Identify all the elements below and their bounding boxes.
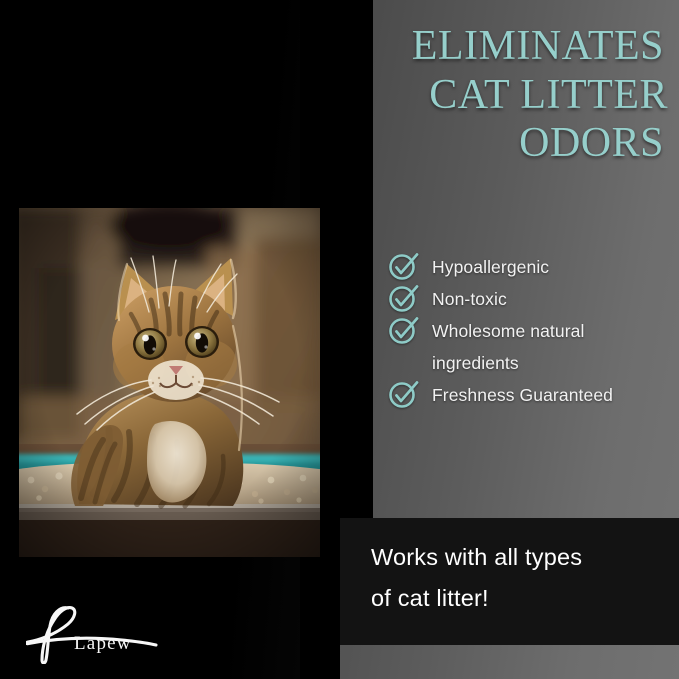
check-circle-icon-glyph: [388, 251, 420, 281]
callout-box: Works with all types of cat litter!: [340, 518, 679, 645]
feature-list: Hypoallergenic Non-toxic Wholesome natur…: [388, 252, 673, 412]
list-item-label: Wholesome natural: [432, 316, 584, 347]
check-circle-icon: [388, 380, 432, 410]
check-circle-icon: [388, 316, 432, 346]
headline: ELIMINATES CAT LITTER ODORS: [300, 22, 668, 168]
callout-line-2: of cat litter!: [371, 578, 661, 619]
headline-line-2: CAT LITTER: [300, 71, 668, 120]
list-item-continuation: ingredients: [388, 348, 673, 379]
list-item-label: Non-toxic: [432, 284, 507, 315]
check-circle-icon: [388, 284, 432, 314]
kitten-photo: [19, 208, 320, 557]
brand-wordmark: Lapew: [74, 633, 132, 655]
list-item: Freshness Guaranteed: [388, 380, 673, 411]
list-item-label: Freshness Guaranteed: [432, 380, 613, 411]
callout-text: Works with all types of cat litter!: [371, 537, 661, 619]
bullet-spacer: [388, 348, 432, 378]
product-poster: ELIMINATES CAT LITTER ODORS: [0, 0, 679, 679]
brand-logo: Lapew: [26, 602, 166, 664]
check-circle-icon-glyph: [388, 379, 420, 409]
check-circle-icon-glyph: [388, 283, 420, 313]
kitten-photo-illustration: [19, 208, 320, 557]
check-circle-icon-glyph: [388, 315, 420, 345]
list-item: Non-toxic: [388, 284, 673, 315]
list-item-label: Hypoallergenic: [432, 252, 549, 283]
callout-line-1: Works with all types: [371, 537, 661, 578]
headline-line-3: ODORS: [300, 119, 668, 168]
list-item: Hypoallergenic: [388, 252, 673, 283]
headline-line-1: ELIMINATES: [300, 22, 668, 71]
check-circle-icon: [388, 252, 432, 282]
list-item-label-continued: ingredients: [432, 348, 519, 379]
list-item: Wholesome natural: [388, 316, 673, 347]
